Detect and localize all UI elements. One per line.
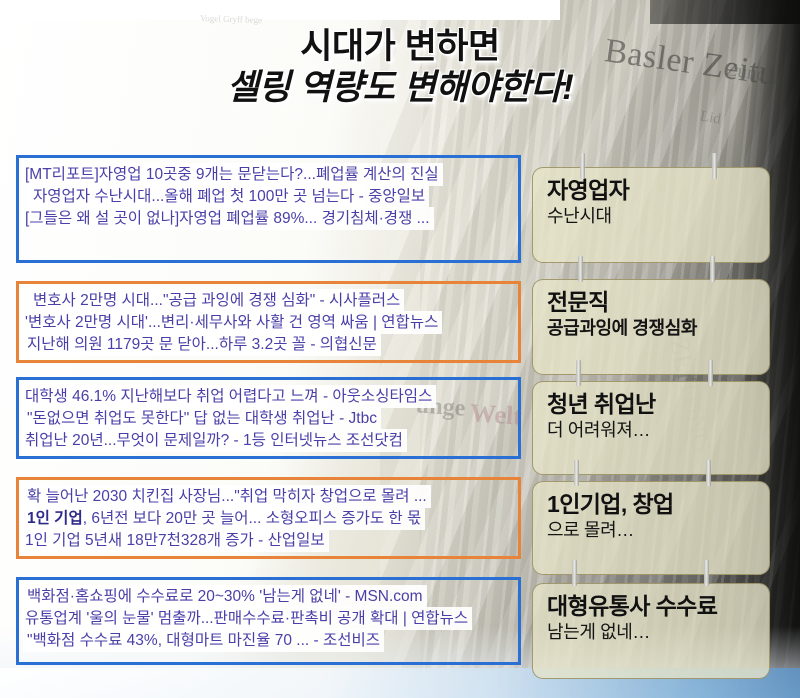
tag-card-subtitle: 남는게 없네… <box>547 622 769 643</box>
background-top-white-band <box>0 0 560 20</box>
clip-icon <box>706 460 711 486</box>
clip-icon <box>704 560 709 586</box>
tag-card-title: 대형유통사 수수료 <box>547 594 769 620</box>
tag-card-youth-employment: 청년 취업난 더 어려워져… <box>532 381 770 475</box>
news-headline: '변호사 2만명 시대'...변리·세무사와 사활 건 영역 싸움 | 연합뉴스 <box>19 312 518 334</box>
news-headline: 유통업계 '울의 눈물' 멈출까...판매수수료·판촉비 공개 확대 | 연합뉴… <box>19 608 518 630</box>
headline-line-1: 시대가 변하면 <box>0 26 800 67</box>
news-headline-bold: 1인 기업 <box>27 510 83 527</box>
news-headline: 취업난 20년...무엇이 문제일까? - 1등 인터넷뉴스 조선닷컴 <box>19 430 518 452</box>
clip-icon <box>576 360 581 386</box>
clip-icon <box>710 256 715 282</box>
tag-card-title: 전문직 <box>547 290 769 316</box>
presentation-slide: Basler Zeitu Zund Lid ZEITUNG FUR Alters… <box>0 0 800 698</box>
news-headline: "백화점 수수료 43%, 대형마트 마진율 70 ... - 조선비즈 <box>19 630 518 652</box>
tag-card-startups: 1인기업, 창업 으로 몰려… <box>532 481 770 575</box>
news-headline: [MT리포트]자영업 10곳중 9개는 문닫는다?...폐업률 계산의 진실 <box>19 164 518 186</box>
news-headline: 1인 기업 5년새 18만7천328개 증가 - 산업일보 <box>19 530 518 552</box>
headline-line-2: 셀링 역량도 변해야한다! <box>0 67 800 108</box>
clip-icon <box>574 460 579 486</box>
news-box-youth-employment: 대학생 46.1% 지난해보다 취업 어렵다고 느껴 - 아웃소싱타임스 "돈없… <box>16 377 521 459</box>
clip-icon <box>712 153 717 179</box>
tag-card-self-employed: 자영업자 수난시대 <box>532 167 770 263</box>
news-headline: 대학생 46.1% 지난해보다 취업 어렵다고 느껴 - 아웃소싱타임스 <box>19 386 518 408</box>
news-headline: 지난해 의원 1179곳 문 닫아...하루 3.2곳 꼴 - 의협신문 <box>19 334 518 356</box>
tag-card-subtitle: 공급과잉에 경쟁심화 <box>547 318 769 339</box>
news-headline: "돈없으면 취업도 못한다" 답 없는 대학생 취업난 - Jtbc <box>19 408 518 430</box>
news-box-startups: 확 늘어난 2030 치킨집 사장님..."취업 막히자 창업으로 몰려 ...… <box>16 477 521 559</box>
news-box-professionals: 변호사 2만명 시대..."공급 과잉에 경쟁 심화" - 시사플러스 '변호사… <box>16 281 521 363</box>
news-box-self-employed: [MT리포트]자영업 10곳중 9개는 문닫는다?...폐업률 계산의 진실 자… <box>16 155 521 263</box>
tag-card-retail-commission: 대형유통사 수수료 남는게 없네… <box>532 583 770 679</box>
news-headline: 1인 기업, 6년전 보다 20만 곳 늘어... 소형오피스 증가도 한 몫 <box>19 508 518 530</box>
tag-card-title: 자영업자 <box>547 178 769 204</box>
tag-card-title: 청년 취업난 <box>547 392 769 418</box>
slide-headline: 시대가 변하면 셀링 역량도 변해야한다! <box>0 26 800 109</box>
tag-card-subtitle: 수난시대 <box>547 206 769 227</box>
news-headline: 자영업자 수난시대...올해 폐업 첫 100만 곳 넘는다 - 중앙일보 <box>19 186 518 208</box>
news-headline: 백화점·홈쇼핑에 수수료로 20~30% '남는게 없네' - MSN.com <box>19 586 518 608</box>
news-box-retail-commission: 백화점·홈쇼핑에 수수료로 20~30% '남는게 없네' - MSN.com … <box>16 577 521 665</box>
clip-icon <box>708 360 713 386</box>
news-headline: 변호사 2만명 시대..."공급 과잉에 경쟁 심화" - 시사플러스 <box>19 290 518 312</box>
tag-card-professionals: 전문직 공급과잉에 경쟁심화 <box>532 279 770 375</box>
clip-icon <box>580 153 585 179</box>
tag-card-subtitle: 더 어려워져… <box>547 420 769 441</box>
tag-card-title: 1인기업, 창업 <box>547 492 769 518</box>
clip-icon <box>572 560 577 586</box>
news-headline: 확 늘어난 2030 치킨집 사장님..."취업 막히자 창업으로 몰려 ... <box>19 486 518 508</box>
news-headline: [그들은 왜 설 곳이 없나]자영업 폐업률 89%... 경기침체·경쟁 ..… <box>19 208 518 230</box>
tag-card-subtitle: 으로 몰려… <box>547 520 769 541</box>
clip-icon <box>578 256 583 282</box>
